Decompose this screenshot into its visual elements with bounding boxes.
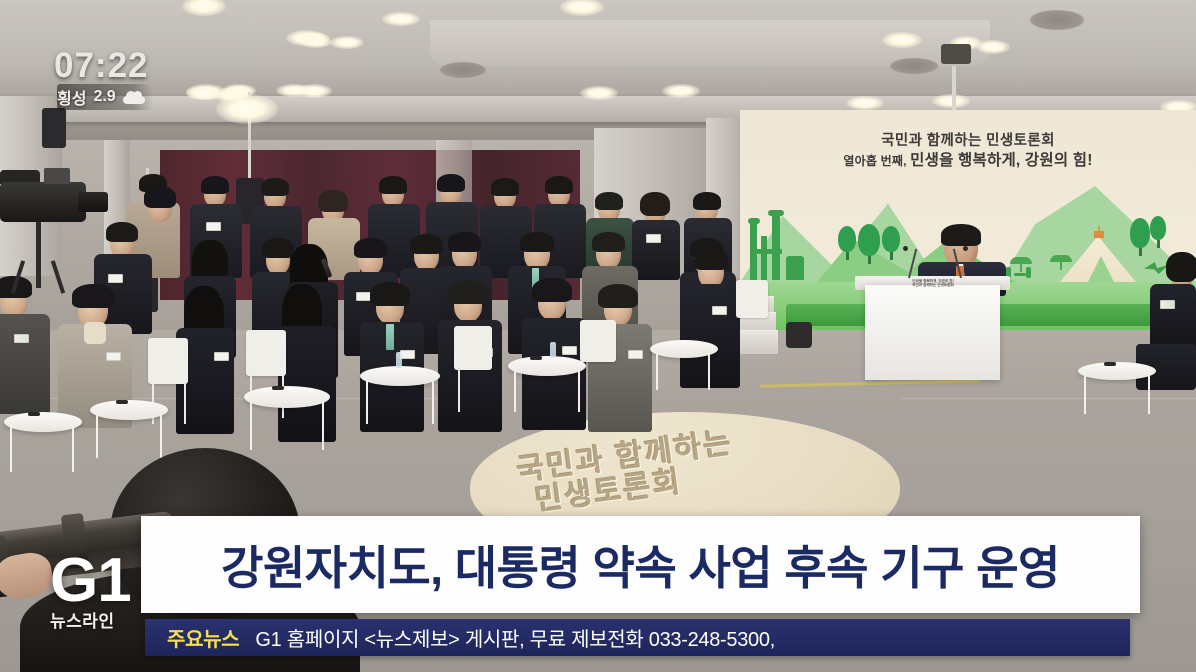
side-table-leg	[366, 380, 368, 424]
ceiling-light	[882, 32, 922, 48]
mural-table-icon	[1014, 273, 1026, 276]
audience-name-badge	[106, 352, 121, 361]
headline-text: 강원자치도, 대통령 약속 사업 후속 기구 운영	[221, 532, 1060, 598]
audience-torso	[632, 220, 680, 280]
headline-bar: 강원자치도, 대통령 약속 사업 후속 기구 운영	[141, 516, 1140, 613]
audience-chair	[148, 338, 188, 384]
podium-sign: 민생을 행복하게, 강원의 힘! 국민과 함께하는 민생토론회	[894, 279, 972, 288]
banner-line-1: 국민과 함께하는 민생토론회	[740, 132, 1196, 151]
audience-hair	[598, 284, 638, 308]
stage-monitor-speaker	[786, 322, 812, 348]
speaker-hair	[941, 224, 981, 246]
audience-hair	[694, 250, 728, 270]
audience-hair	[491, 178, 519, 196]
side-table	[1078, 362, 1156, 380]
spot-light	[216, 94, 278, 124]
panelist-torso	[1150, 284, 1196, 350]
banner-line-2-prefix: 열아홉 번째,	[843, 154, 910, 168]
side-table-leg	[514, 370, 516, 412]
ticker-category: 주요뉴스	[145, 623, 255, 652]
banner-line-2-main: 민생을 행복하게, 강원의 힘!	[910, 152, 1092, 169]
audience-turtleneck	[84, 322, 106, 344]
water-bottle	[396, 352, 402, 368]
ceiling-recess	[1030, 10, 1084, 30]
chair-leg	[458, 368, 460, 412]
audience-name-badge	[562, 346, 577, 355]
audience-hair	[448, 280, 488, 304]
ceiling-light	[382, 12, 420, 26]
audience-hair	[262, 238, 294, 258]
side-table-leg	[1084, 374, 1086, 414]
wall-speaker	[42, 108, 66, 148]
mural-factory-icon	[748, 204, 820, 280]
audience-name-badge	[712, 306, 727, 315]
backdrop-banner-text: 국민과 함께하는 민생토론회 열아홉 번째, 민생을 행복하게, 강원의 힘!	[740, 132, 1196, 172]
mural-tree-icon	[858, 224, 880, 264]
panelist-hair	[1166, 252, 1196, 282]
water-bottle	[550, 342, 556, 358]
ceiling-light	[662, 84, 700, 98]
table-microphone	[530, 356, 542, 360]
audience-name-badge	[646, 234, 661, 243]
mural-person-icon	[1026, 267, 1031, 278]
side-table	[244, 386, 330, 408]
news-ticker: 주요뉴스 G1 홈페이지 <뉴스제보> 게시판, 무료 제보전화 033-248…	[145, 619, 1130, 656]
audience-name-badge	[356, 292, 371, 301]
mural-tree-icon	[1150, 216, 1166, 248]
mural-tree-icon	[1130, 218, 1150, 256]
audience-hair	[448, 232, 481, 252]
side-table	[360, 366, 440, 386]
audience-chair	[580, 320, 616, 362]
side-table	[508, 356, 586, 376]
audience-hair	[354, 238, 387, 258]
audience-hair	[592, 232, 625, 252]
audience-hair	[437, 174, 465, 192]
ceiling-light	[580, 86, 618, 100]
audience-hair	[532, 278, 572, 302]
audience-name-badge	[14, 334, 29, 343]
audience-torso	[0, 314, 50, 414]
mural-umbrella-pole	[1020, 262, 1022, 272]
mural-flag-icon	[1094, 231, 1104, 238]
ceiling-camera	[941, 44, 971, 64]
ceiling-light	[300, 36, 332, 48]
weather-location: 횡성	[57, 85, 86, 109]
audience-hair	[595, 192, 623, 210]
side-table-leg	[656, 352, 658, 390]
camera-monitor	[44, 168, 70, 184]
audience-hair	[640, 192, 670, 216]
audience-name-badge	[206, 222, 221, 231]
clock-time: 07:22	[54, 46, 149, 86]
side-table-leg	[1148, 374, 1150, 414]
camera-tripod	[36, 222, 41, 288]
audience-hair	[318, 190, 348, 212]
audience-chair	[454, 326, 492, 370]
podium-sign-line-2: 국민과 함께하는 민생토론회	[894, 283, 972, 287]
audience-chair	[246, 330, 286, 376]
podium	[865, 285, 1000, 380]
audience-hair	[370, 282, 410, 306]
camera-body	[0, 182, 86, 222]
audience-chair	[736, 280, 768, 318]
ceiling-light	[846, 96, 884, 110]
ticker-message: G1 홈페이지 <뉴스제보> 게시판, 무료 제보전화 033-248-5300…	[255, 623, 775, 652]
audience-hair	[520, 232, 554, 252]
audience-hair	[379, 176, 407, 194]
panelist-name-badge	[1160, 300, 1175, 309]
ceiling-light	[276, 84, 312, 97]
broadcast-screenshot: 국민과 함께하는 민생토론회 열아홉 번째, 민생을 행복하게, 강원의 힘! …	[0, 0, 1196, 672]
audience-torso	[680, 284, 740, 388]
audience-hair	[261, 178, 289, 196]
floor-seam	[900, 398, 1196, 399]
side-table	[4, 412, 82, 432]
ceiling-light	[932, 94, 970, 108]
audience-necktie	[386, 324, 394, 350]
podium-microphone-head	[903, 246, 908, 251]
cameraman-hair	[144, 186, 176, 208]
audience-name-badge	[214, 352, 229, 361]
audience-hair	[410, 234, 443, 254]
audience-name-badge	[400, 350, 415, 359]
table-microphone	[116, 400, 128, 404]
audience-torso-speaking	[278, 326, 336, 442]
cloud-icon	[123, 90, 145, 104]
podium-microphone-head	[963, 246, 968, 251]
table-microphone	[28, 412, 40, 416]
audience-hair	[545, 176, 573, 194]
audience-name-badge	[628, 350, 643, 359]
side-table-leg	[708, 352, 710, 390]
audience-hair	[201, 176, 229, 194]
chair-leg	[184, 382, 186, 424]
ceiling-light	[330, 36, 364, 49]
mural-tree-icon	[882, 226, 900, 260]
broadcast-camera-rig	[0, 168, 124, 288]
ceiling-recess	[440, 62, 486, 78]
ceiling-light	[976, 40, 1010, 54]
mural-tree-icon	[838, 226, 856, 260]
camera-lens	[78, 192, 108, 212]
audience-hair	[693, 192, 721, 210]
table-microphone	[272, 386, 284, 390]
side-table-leg	[578, 370, 580, 412]
weather-widget: 횡성 2.9	[57, 84, 153, 110]
table-microphone	[1104, 362, 1116, 366]
side-table-leg	[432, 380, 434, 424]
mural-umbrella-pole	[1060, 260, 1062, 270]
ceiling-light	[186, 86, 222, 100]
side-table	[90, 400, 168, 420]
weather-temperature: 2.9	[93, 88, 115, 106]
banner-line-2: 열아홉 번째, 민생을 행복하게, 강원의 힘!	[740, 151, 1196, 171]
ceiling-recess	[890, 58, 938, 74]
